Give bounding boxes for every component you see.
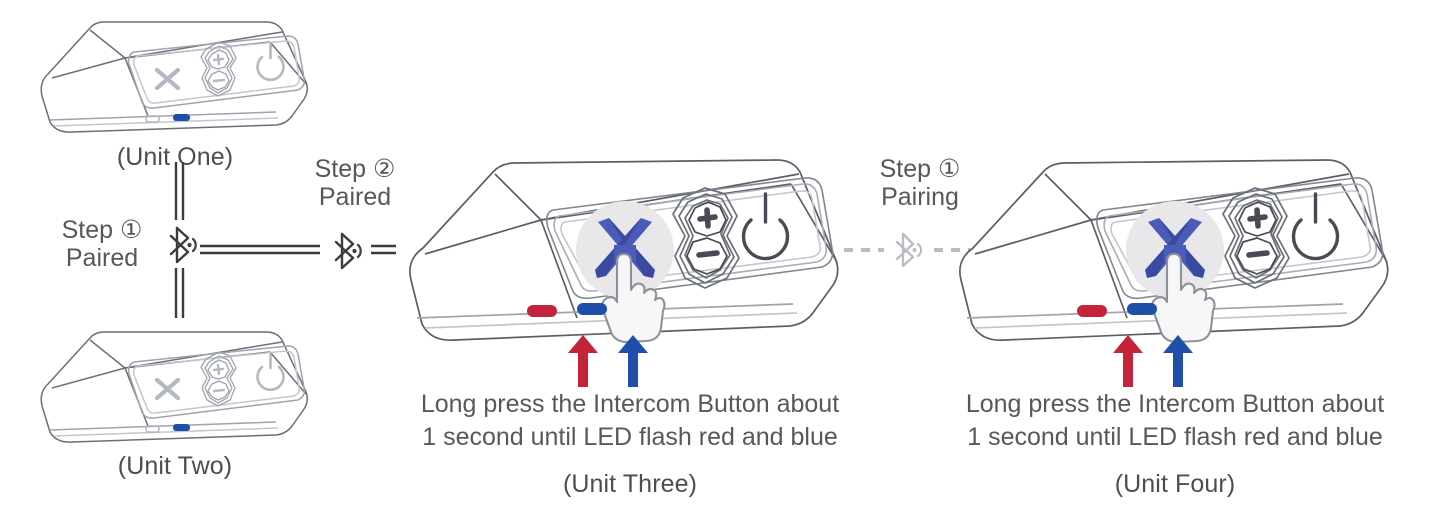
unit-two-caption: (Unit Two) <box>30 452 320 481</box>
arrow-up-icon <box>1113 335 1143 387</box>
unit-four-device <box>945 150 1405 355</box>
unit-three-device <box>395 150 855 355</box>
bluetooth-icon <box>336 234 361 268</box>
led-red <box>1077 305 1107 317</box>
unit-three-instruction-line2: 1 second until LED flash red and blue <box>380 421 880 454</box>
step-2-horizontal-link <box>198 225 398 275</box>
arrow-up-icon <box>1163 335 1193 387</box>
unit-one-device <box>30 12 320 147</box>
led-red <box>527 305 557 317</box>
unit-three-instruction: Long press the Intercom Button about 1 s… <box>380 388 880 454</box>
unit-three-caption: (Unit Three) <box>380 470 880 499</box>
unit-four-instruction: Long press the Intercom Button about 1 s… <box>920 388 1430 454</box>
bluetooth-icon <box>897 234 921 266</box>
led-blue <box>173 114 190 121</box>
power-icon[interactable] <box>1294 194 1338 259</box>
led-blue <box>1127 303 1157 315</box>
step-1-paired-line2: Paired <box>52 244 152 272</box>
led-blue <box>577 303 607 315</box>
arrow-up-icon <box>618 335 648 387</box>
power-icon[interactable] <box>744 194 788 259</box>
step-1-paired-label: Step ① Paired <box>52 216 152 272</box>
led-blue <box>173 424 190 431</box>
bluetooth-icon <box>171 228 196 262</box>
unit-four-led-arrows <box>1105 335 1215 390</box>
unit-four-instruction-line2: 1 second until LED flash red and blue <box>920 421 1430 454</box>
unit-three-instruction-line1: Long press the Intercom Button about <box>380 388 880 421</box>
unit-three-led-arrows <box>560 335 670 390</box>
unit-four-instruction-line1: Long press the Intercom Button about <box>920 388 1430 421</box>
arrow-up-icon <box>568 335 598 387</box>
unit-two-device <box>30 322 320 457</box>
step-1-paired-line1: Step ① <box>52 216 152 244</box>
unit-four-caption: (Unit Four) <box>920 470 1430 499</box>
